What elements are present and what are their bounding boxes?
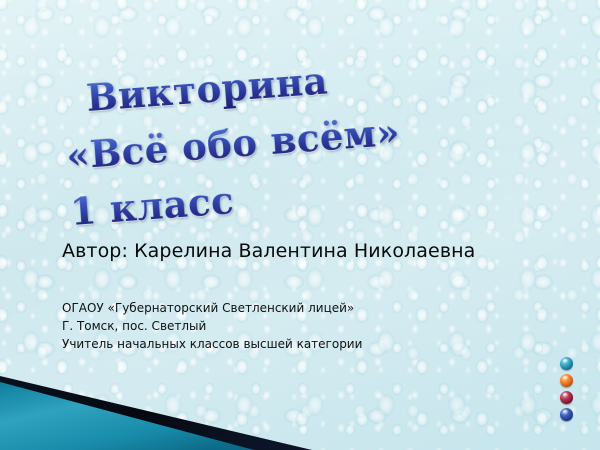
presentation-slide: Викторина «Всё обо всём» 1 класс Автор: … [0,0,600,450]
title-line-3: 1 класс [69,178,236,234]
author-line: Автор: Карелина Валентина Николаевна [62,240,475,262]
sphere-navy [560,408,573,421]
title-line-1: Викторина [85,58,329,120]
sphere-orange [560,374,573,387]
sphere-maroon [560,391,573,404]
sphere-teal [560,357,573,370]
title-line-2: «Всё обо всём» [65,110,402,178]
info-line-1: ОГАОУ «Губернаторский Светленский лицей» [62,299,362,317]
info-line-3: Учитель начальных классов высшей категор… [62,335,362,353]
info-line-2: Г. Томск, пос. Светлый [62,317,362,335]
title-wordart: Викторина «Всё обо всём» 1 класс [0,56,600,231]
institution-info: ОГАОУ «Губернаторский Светленский лицей»… [62,299,362,353]
sphere-bullets [560,357,582,423]
